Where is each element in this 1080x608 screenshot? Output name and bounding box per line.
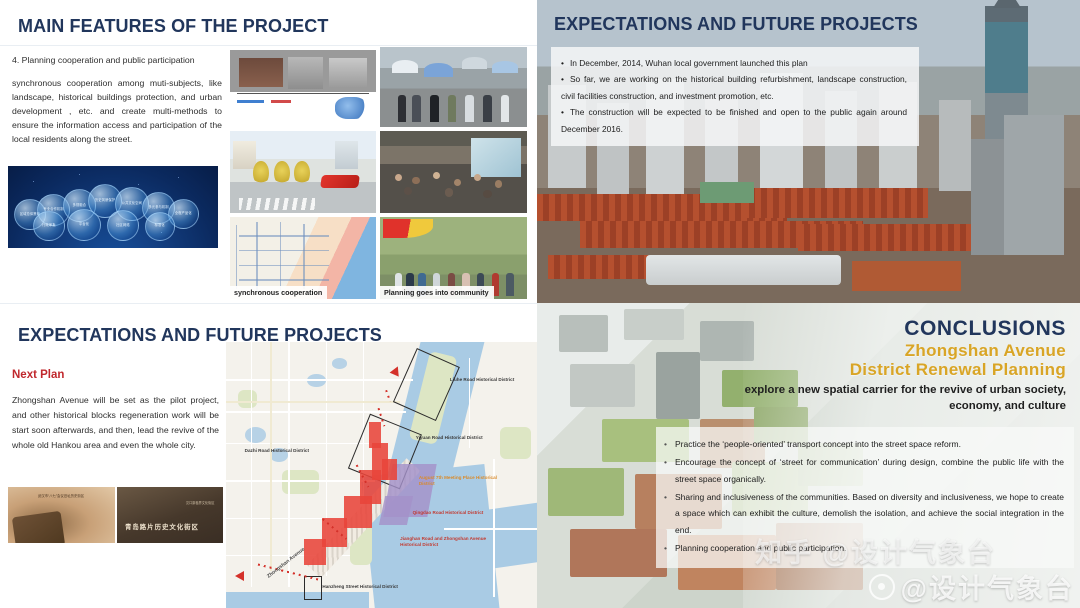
title-divider (0, 45, 537, 46)
thumb-caption: 青岛路片历史文化街区 (125, 522, 199, 531)
community-meeting-photo (380, 131, 527, 213)
district-thumbnails: 武汉市“八七”会议旧址历史街区 汉口原租界文化街区 青岛路片历史文化街区 (8, 487, 223, 543)
slide-expectations-map: EXPECTATIONS AND FUTURE PROJECTS Next Pl… (0, 303, 537, 608)
planning-zone-map: synchronous cooperation (230, 217, 376, 299)
bullet-marker: • (561, 107, 564, 117)
project-subtitle-line2: District Renewal Planning (736, 360, 1066, 379)
qingdao-road-district-area (378, 496, 412, 525)
bullet-marker: • (664, 454, 667, 487)
bubble-label: 多元参与机制 (149, 206, 169, 210)
bubble-label: 公共文化空间 (122, 202, 142, 206)
bubble-label: 社区网络 (116, 224, 130, 228)
main-features-text-block: 4. Planning cooperation and public parti… (12, 54, 222, 146)
slide-top-divider (0, 303, 537, 304)
bubble-item: 标准化 (145, 212, 175, 241)
community-event-photo: Planning goes into community (380, 217, 527, 299)
map-label-yiyuan: Yiyuan Road Historical District (416, 435, 483, 441)
bullet-item: •The construction will be expected to be… (561, 104, 907, 137)
feature-paragraph: synchronous cooperation among muti-subje… (12, 76, 222, 146)
gallery-caption: synchronous cooperation (230, 286, 327, 299)
street-rendering (230, 131, 376, 213)
street-survey-rain-photo (380, 47, 527, 127)
bullet-text: In December, 2014, Wuhan local governmen… (570, 58, 808, 68)
thumb-caption: 武汉市“八七”会议旧址历史街区 (38, 493, 84, 498)
slide-deck: MAIN FEATURES OF THE PROJECT 4. Planning… (0, 0, 1080, 608)
bullet-marker: • (561, 74, 564, 84)
expectations-bullet-box: •In December, 2014, Wuhan local governme… (551, 47, 919, 146)
stone-relic (12, 511, 65, 543)
next-plan-paragraph: Zhongshan Avenue will be set as the pilo… (12, 393, 219, 453)
bullet-marker: • (664, 436, 667, 452)
gallery-caption: Planning goes into community (380, 286, 494, 299)
project-subtitle-line1: Zhongshan Avenue (736, 341, 1066, 360)
thumb-sub-caption: 汉口原租界文化街区 (186, 500, 215, 505)
august-7th-memorial-thumb: 武汉市“八七”会议旧址历史街区 (8, 487, 115, 543)
bubble-label: 历史风貌保护 (95, 199, 115, 203)
hankou-historical-districts-map: Zhongshan Avenue Liuhe Road Historical D… (226, 342, 537, 608)
bullet-item: • Practice the ‘people-oriented’ transpo… (664, 436, 1064, 452)
bubble-item: 平台化 (67, 209, 102, 242)
map-label-liuhe: Liuhe Road Historical District (450, 377, 514, 383)
page-title: EXPECTATIONS AND FUTURE PROJECTS (554, 14, 918, 35)
bullet-text: Encourage the concept of ‘street for com… (675, 454, 1064, 487)
bullet-item: • Encourage the concept of ‘street for c… (664, 454, 1064, 487)
bullet-text: So far, we are working on the historical… (561, 74, 907, 100)
bullet-text: Planning cooperation and public particip… (675, 540, 847, 556)
qingdao-road-district-thumb: 汉口原租界文化街区 青岛路片历史文化街区 (117, 487, 224, 543)
map-label-dazhi: Dazhi Road Historical District (245, 448, 309, 454)
feature-image-gallery: synchronous cooperation Planning goes in… (230, 47, 527, 297)
bullet-marker: • (664, 540, 667, 556)
bullet-item: •So far, we are working on the historica… (561, 71, 907, 104)
bubble-label: 多规融合 (73, 204, 87, 208)
bullet-item: • Planning cooperation and public partic… (664, 540, 1064, 556)
bullet-marker: • (561, 58, 564, 68)
bubble-item: 行政审批 (33, 211, 65, 241)
slide-conclusions: CONCLUSIONS Zhongshan Avenue District Re… (537, 303, 1080, 608)
map-label-jianghan: Jianghan Road and Zhongshan Avenue Histo… (400, 536, 500, 548)
bubble-label: 平台化 (79, 223, 89, 227)
direction-arrow-southwest (235, 571, 244, 581)
project-tagline: explore a new spatial carrier for the re… (736, 383, 1066, 414)
feature-lead-text: 4. Planning cooperation and public parti… (12, 54, 222, 67)
conclusions-bullet-box: • Practice the ‘people-oriented’ transpo… (656, 427, 1074, 568)
map-label-august7th: August 7th Meeting Place Historical Dist… (419, 475, 512, 487)
bubble-label: 全程产品化 (175, 212, 192, 216)
map-label-hanzheng: Hanzheng Street Historical District (322, 584, 398, 590)
page-title: CONCLUSIONS (736, 317, 1066, 341)
bubble-label: 标准化 (155, 224, 165, 228)
map-label-qingdao: Qingdao Road Historical District (413, 510, 484, 516)
section-heading-next-plan: Next Plan (12, 369, 64, 381)
slide-expectations-photo: EXPECTATIONS AND FUTURE PROJECTS •In Dec… (537, 0, 1080, 303)
hanzheng-street-district-outline (304, 576, 323, 600)
bullet-item: •In December, 2014, Wuhan local governme… (561, 55, 907, 71)
slide-main-features: MAIN FEATURES OF THE PROJECT 4. Planning… (0, 0, 537, 303)
bullet-text: Sharing and inclusiveness of the communi… (675, 489, 1064, 538)
wuhan-hankou-aerial-photo (537, 0, 1080, 303)
blue-bubble-diagram: 区域总体策略 专业合作机制 多规融合 历史风貌保护 公共文化空间 多元参与机制 … (8, 166, 218, 248)
bullet-item: • Sharing and inclusiveness of the commu… (664, 489, 1064, 538)
page-title: MAIN FEATURES OF THE PROJECT (18, 16, 328, 37)
elevation-drawing (230, 47, 376, 127)
bullet-text: The construction will be expected to be … (561, 107, 907, 133)
direction-arrow-north (389, 364, 402, 376)
conclusions-heading-block: CONCLUSIONS Zhongshan Avenue District Re… (736, 317, 1066, 415)
bubble-item: 社区网络 (107, 210, 140, 241)
bubble-label: 行政审批 (42, 224, 56, 228)
bullet-text: Practice the ‘people-oriented’ transport… (675, 436, 961, 452)
bullet-marker: • (664, 489, 667, 538)
